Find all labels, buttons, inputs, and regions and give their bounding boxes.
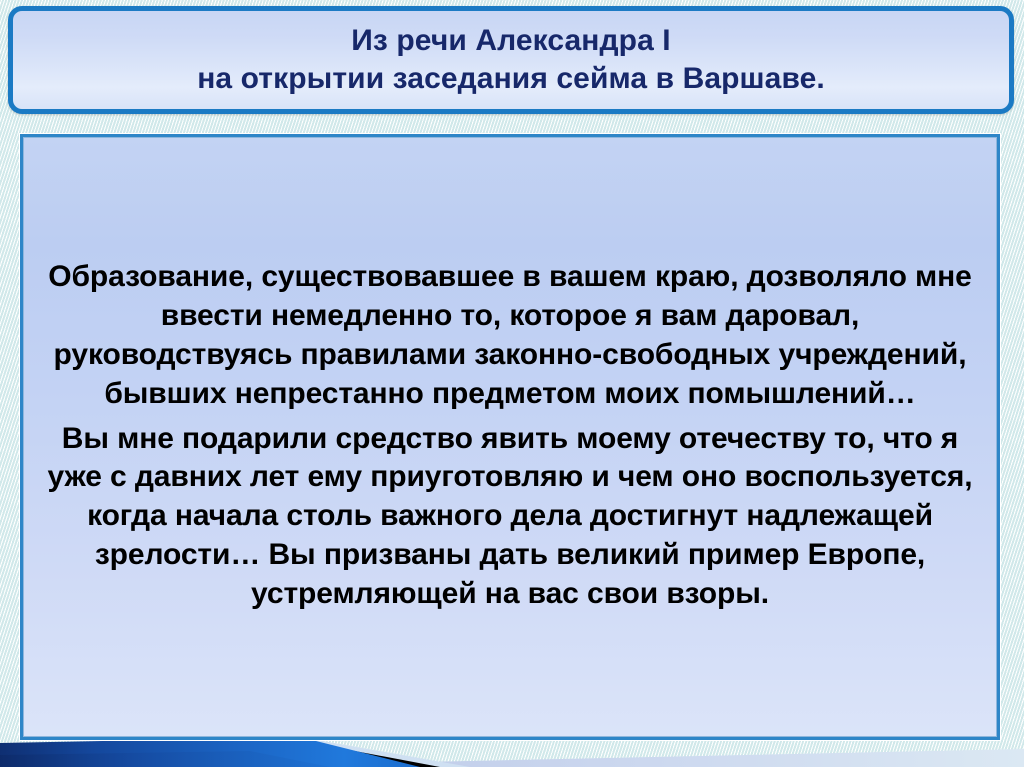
- title-line-1: Из речи Александра I: [27, 22, 995, 60]
- page-title: Из речи Александра I на открытии заседан…: [13, 22, 1009, 99]
- slide-body-plate: Образование, существовавшее в вашем краю…: [19, 133, 1001, 741]
- body-paragraph: Образование, существовавшее в вашем краю…: [40, 258, 980, 413]
- title-line-2: на открытии заседания сейма в Варшаве.: [27, 60, 995, 98]
- slide-body-inner: Образование, существовавшее в вашем краю…: [23, 137, 997, 737]
- slide-title-plate: Из речи Александра I на открытии заседан…: [8, 6, 1014, 114]
- slide-canvas: Из речи Александра I на открытии заседан…: [0, 0, 1024, 767]
- body-paragraph: Вы мне подарили средство явить моему оте…: [40, 420, 980, 614]
